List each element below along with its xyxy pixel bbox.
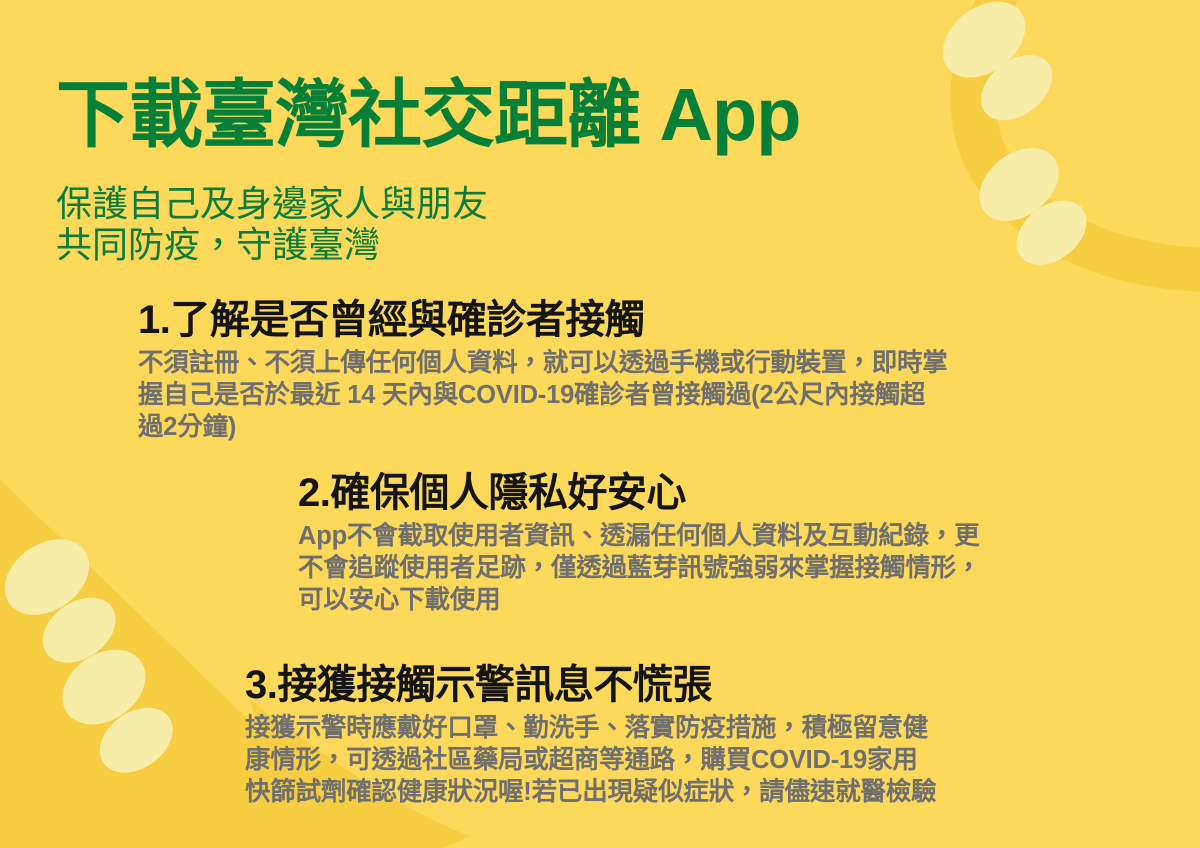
section-3: 3.接獲接觸示警訊息不慌張 接獲示警時應戴好口罩、勤洗手、落實防疫措施，積極留意… <box>245 662 936 808</box>
section-2-body-line-2: 不會追蹤使用者足跡，僅透過藍芽訊號強弱來掌握接觸情形， <box>298 552 981 584</box>
page-subtitle: 保護自己及身邊家人與朋友 共同防疫，守護臺灣 <box>56 183 488 265</box>
section-1: 1.了解是否曾經與確診者接觸 不須註冊、不須上傳任何個人資料，就可以透過手機或行… <box>138 297 948 443</box>
section-2-body-line-1: App不會截取使用者資訊、透漏任何個人資料及互動紀錄，更 <box>298 520 981 552</box>
section-3-heading: 3.接獲接觸示警訊息不慌張 <box>245 662 936 708</box>
section-3-body-line-1: 接獲示警時應戴好口罩、勤洗手、落實防疫措施，積極留意健 <box>245 712 936 744</box>
poster-root: 下載臺灣社交距離 App 保護自己及身邊家人與朋友 共同防疫，守護臺灣 1.了解… <box>0 0 1200 848</box>
section-1-heading: 1.了解是否曾經與確診者接觸 <box>138 297 948 343</box>
section-1-body-line-1: 不須註冊、不須上傳任何個人資料，就可以透過手機或行動裝置，即時掌 <box>138 347 948 379</box>
poster-content: 下載臺灣社交距離 App 保護自己及身邊家人與朋友 共同防疫，守護臺灣 1.了解… <box>0 0 1200 848</box>
section-2: 2.確保個人隱私好安心 App不會截取使用者資訊、透漏任何個人資料及互動紀錄，更… <box>298 470 981 616</box>
section-2-heading: 2.確保個人隱私好安心 <box>298 470 981 516</box>
page-title: 下載臺灣社交距離 App <box>56 72 800 158</box>
section-3-body: 接獲示警時應戴好口罩、勤洗手、落實防疫措施，積極留意健 康情形，可透過社區藥局或… <box>245 712 936 808</box>
section-3-body-line-3: 快篩試劑確認健康狀況喔!若已出現疑似症狀，請儘速就醫檢驗 <box>245 776 936 808</box>
section-1-body-line-2: 握自己是否於最近 14 天內與COVID-19確診者曾接觸過(2公尺內接觸超 <box>138 379 948 411</box>
section-2-body-line-3: 可以安心下載使用 <box>298 584 981 616</box>
subtitle-line-1: 保護自己及身邊家人與朋友 <box>56 183 488 224</box>
section-2-body: App不會截取使用者資訊、透漏任何個人資料及互動紀錄，更 不會追蹤使用者足跡，僅… <box>298 520 981 616</box>
section-3-body-line-2: 康情形，可透過社區藥局或超商等通路，購買COVID-19家用 <box>245 744 936 776</box>
section-1-body: 不須註冊、不須上傳任何個人資料，就可以透過手機或行動裝置，即時掌 握自己是否於最… <box>138 347 948 443</box>
subtitle-line-2: 共同防疫，守護臺灣 <box>56 224 488 265</box>
section-1-body-line-3: 過2分鐘) <box>138 411 948 443</box>
